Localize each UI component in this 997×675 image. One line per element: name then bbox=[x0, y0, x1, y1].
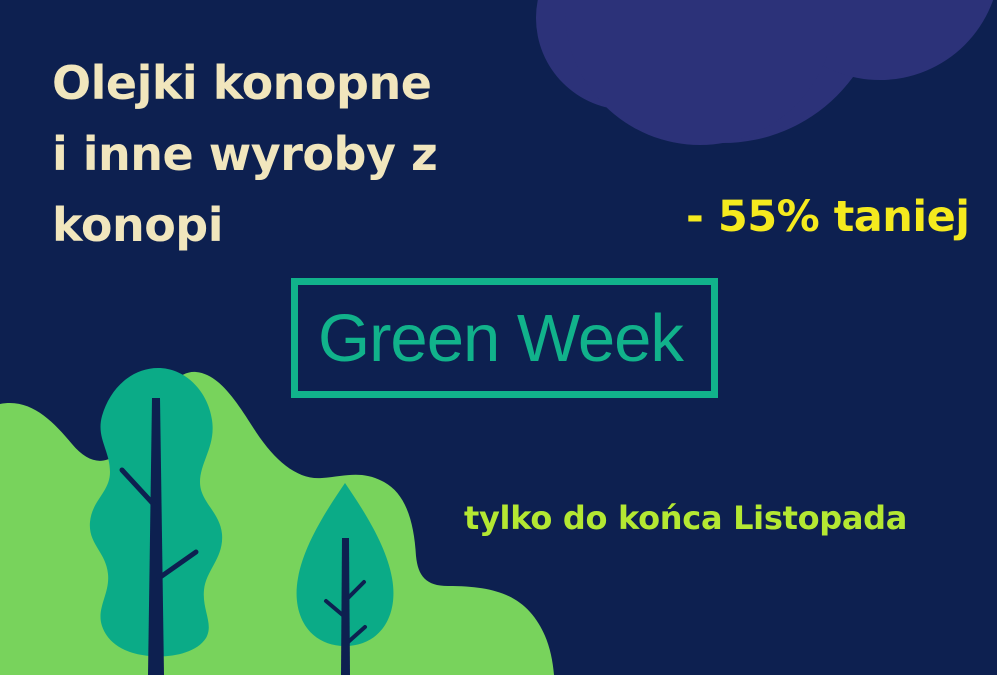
small-tree-trunk bbox=[341, 538, 350, 675]
offer-validity-text: tylko do końca Listopada bbox=[464, 498, 907, 538]
page-title: Olejki konopne i inne wyroby z konopi bbox=[52, 48, 532, 261]
discount-badge: - 55% taniej bbox=[686, 191, 970, 243]
brand-name: Green Week bbox=[318, 295, 698, 383]
promo-banner: Olejki konopne i inne wyroby z konopi - … bbox=[0, 0, 997, 675]
